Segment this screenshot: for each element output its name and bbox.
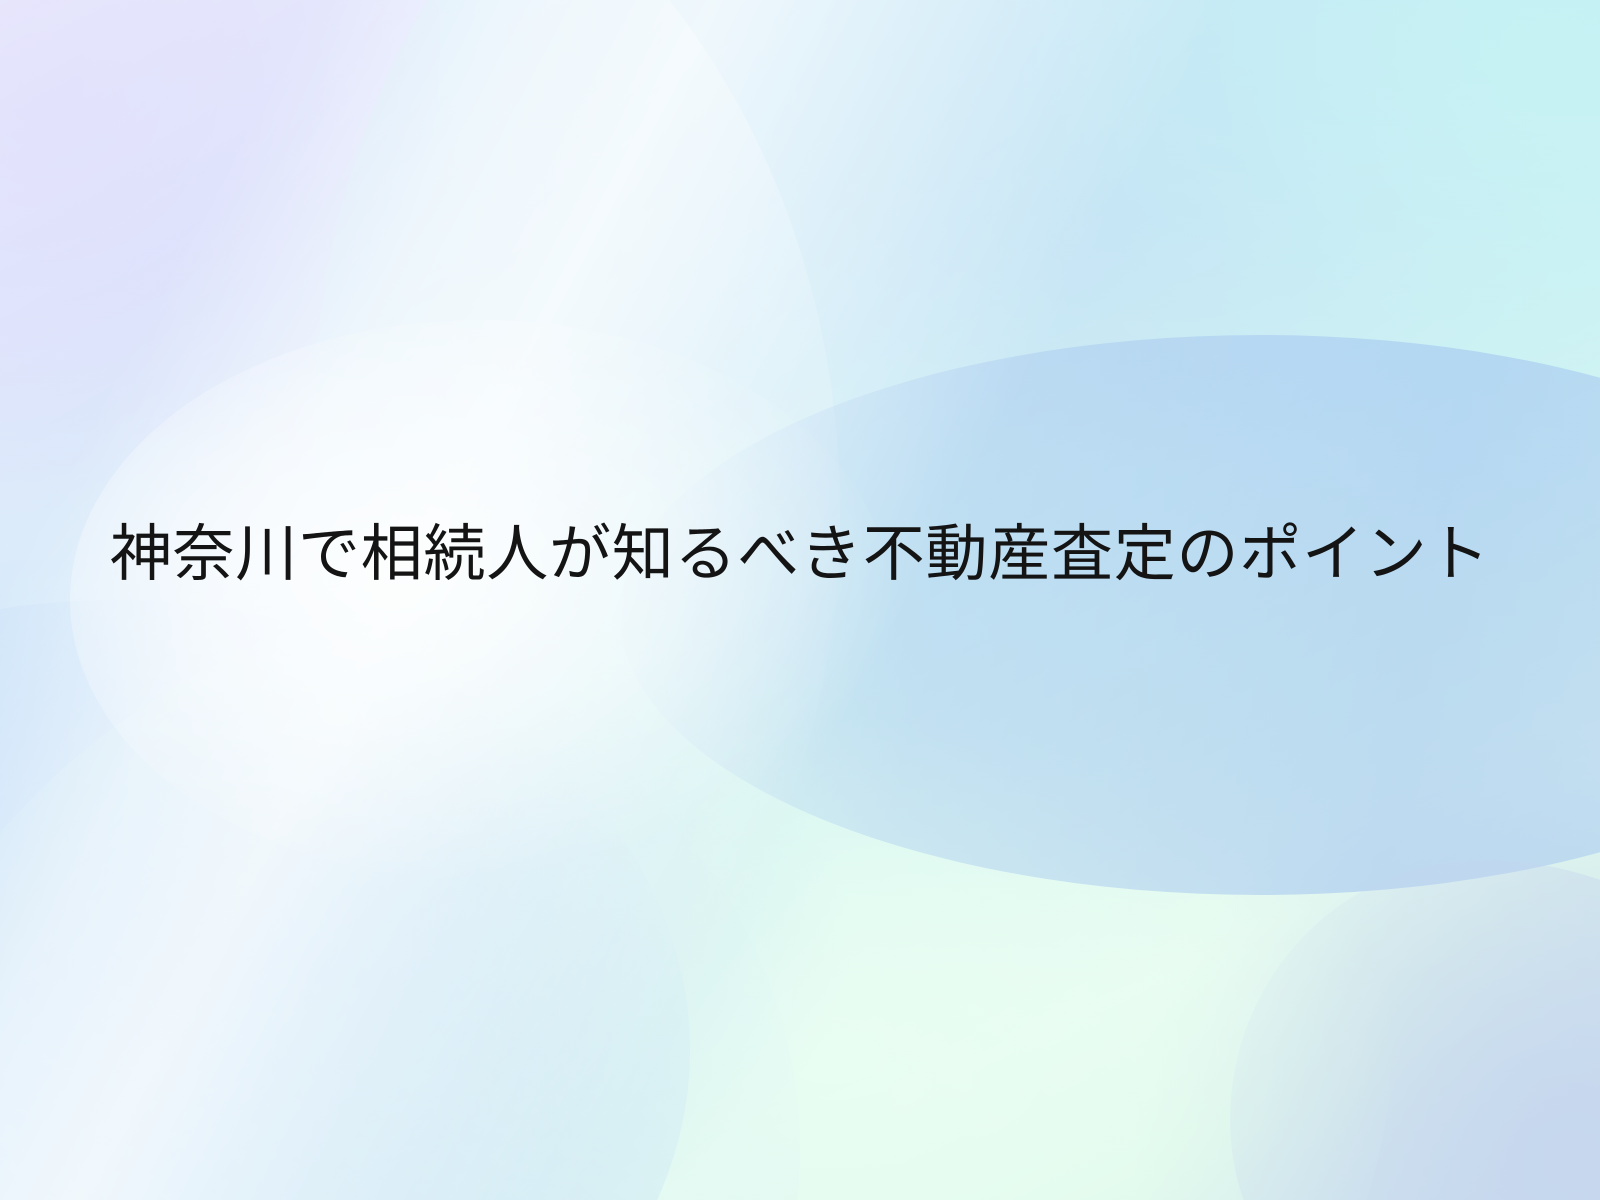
decorative-white-arc-left <box>0 0 840 1200</box>
decorative-blue-lobe-bottom-left <box>0 600 690 1200</box>
decorative-blue-ellipse-right <box>620 335 1600 895</box>
title-container: 神奈川で相続人が知るべき不動産査定のポイント <box>0 516 1600 592</box>
decorative-title-glow <box>70 320 890 880</box>
decorative-lavender-lobe-top-left <box>0 0 440 500</box>
background-white-sweep <box>0 0 1600 1200</box>
background-radial-tints <box>0 0 1600 1200</box>
presentation-slide: 神奈川で相続人が知るべき不動産査定のポイント <box>0 0 1600 1200</box>
background-base-gradient <box>0 0 1600 1200</box>
decorative-arc-edge-bottom-left <box>0 560 800 1200</box>
decorative-cyan-wedge <box>105 0 1600 1200</box>
slide-title: 神奈川で相続人が知るべき不動産査定のポイント <box>110 516 1490 592</box>
decorative-periwinkle-bottom-right <box>1230 860 1600 1200</box>
